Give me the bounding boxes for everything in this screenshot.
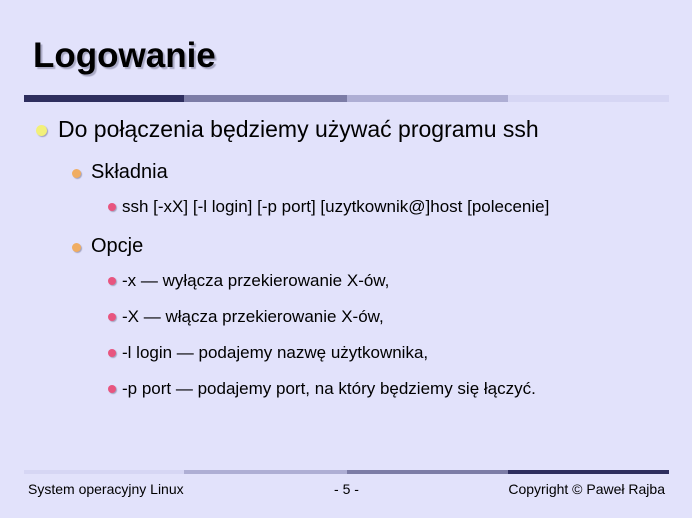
bullet-item-option-x: -x — wyłącza przekierowanie X-ów, (108, 269, 692, 293)
bullet-text-intro: Do połączenia będziemy używać programu s… (58, 114, 539, 145)
page-title: Logowanie (33, 36, 216, 76)
header-divider-segment-2 (184, 95, 347, 102)
footer-divider-segment-2 (184, 470, 347, 474)
bullet-text-options-heading: Opcje (91, 233, 143, 260)
bullet-text-option-l: -l login — podajemy nazwę użytkownika, (122, 341, 428, 365)
footer-copyright: Copyright © Paweł Rajba (508, 481, 665, 497)
bullet-text-syntax-heading: Składnia (91, 159, 168, 186)
header-divider-segment-3 (347, 95, 508, 102)
bullet-marker-icon (108, 203, 116, 211)
bullet-text-option-p: -p port — podajemy port, na który będzie… (122, 377, 536, 401)
slide-footer: System operacyjny Linux - 5 - Copyright … (24, 481, 669, 505)
bullet-item-intro: Do połączenia będziemy używać programu s… (36, 114, 692, 145)
bullet-item-option-l: -l login — podajemy nazwę użytkownika, (108, 341, 692, 365)
bullet-marker-icon (108, 313, 116, 321)
footer-divider-segment-4 (508, 470, 669, 474)
bullet-text-option-x: -x — wyłącza przekierowanie X-ów, (122, 269, 389, 293)
bullet-item-syntax-heading: Składnia (72, 159, 692, 186)
bullet-marker-icon (72, 169, 81, 178)
bullet-marker-icon (108, 349, 116, 357)
bullet-marker-icon (36, 125, 47, 136)
footer-divider-segment-3 (347, 470, 508, 474)
bullet-marker-icon (108, 385, 116, 393)
bullet-item-option-X: -X — włącza przekierowanie X-ów, (108, 305, 692, 329)
bullet-marker-icon (72, 243, 81, 252)
bullet-item-options-heading: Opcje (72, 233, 692, 260)
bullet-text-syntax-line: ssh [-xX] [-l login] [-p port] [uzytkown… (122, 195, 549, 219)
bullet-marker-icon (108, 277, 116, 285)
header-divider-segment-4 (508, 95, 669, 102)
footer-divider-segment-1 (24, 470, 184, 474)
bullet-item-syntax-line: ssh [-xX] [-l login] [-p port] [uzytkown… (108, 195, 692, 219)
header-divider-segment-1 (24, 95, 184, 102)
footer-divider (24, 470, 669, 474)
bullet-text-option-X: -X — włącza przekierowanie X-ów, (122, 305, 384, 329)
header-divider (24, 95, 669, 102)
slide-content: Do połączenia będziemy używać programu s… (0, 114, 692, 410)
bullet-item-option-p: -p port — podajemy port, na który będzie… (108, 377, 692, 401)
